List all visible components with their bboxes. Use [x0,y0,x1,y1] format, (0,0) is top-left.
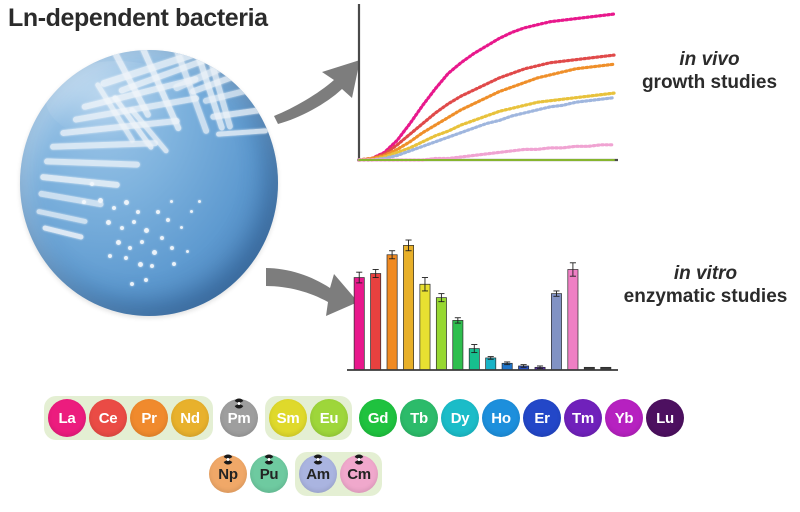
bacterial-colony [82,200,86,204]
bacterial-colony [98,198,103,203]
bacterial-colony [190,210,193,213]
bacterial-colony [120,226,124,230]
bacterial-streak [44,158,140,167]
element-symbol: Yb [615,410,634,427]
element-badge-ce[interactable]: Ce [89,399,127,437]
element-symbol: Pu [260,466,279,483]
bacterial-colony [160,236,164,240]
bacterial-streak [94,81,135,143]
bar-Tb [469,345,479,370]
element-symbol: Ho [491,410,510,427]
element-badge-am[interactable]: Am [299,455,337,493]
bacterial-colony [150,264,154,268]
enzyme-activity-chart [345,228,620,380]
bar-Gd [453,318,463,370]
element-symbol: Sm [277,410,300,427]
growth-curves-chart [345,2,620,174]
bacterial-streak [210,106,270,120]
element-badge-nd[interactable]: Nd [171,399,209,437]
label-in-vitro: in vitro enzymatic studies [618,262,793,308]
bacterial-colony [130,282,134,286]
growth-curve-La [359,14,614,160]
element-badge-dy[interactable]: Dy [441,399,479,437]
element-badge-tb[interactable]: Tb [400,399,438,437]
bacterial-colony [106,220,111,225]
bacterial-colony [144,228,149,233]
element-badge-pu[interactable]: Pu [250,455,288,493]
element-symbol: Pm [228,410,251,427]
bacterial-streak [72,95,199,123]
label-in-vitro-latin: in vitro [618,262,793,285]
bar-Eu [436,294,446,370]
element-symbol: La [59,410,76,427]
bacterial-colony [152,250,157,255]
radioactive-icon [354,454,365,465]
bacterial-colony [172,262,176,266]
bacterial-streak [60,118,180,137]
bacterial-colony [180,226,183,229]
highlighted-element-group: AmCm [295,452,382,496]
lanthanide-series-row: LaCePrNdPmSmEuGdTbDyHoErTmYbLu [44,396,688,440]
highlighted-element-group: SmEu [265,396,352,440]
page-title: Ln-dependent bacteria [8,4,268,33]
radioactive-icon [223,454,234,465]
bacterial-colony [112,206,116,210]
label-in-vitro-sub: enzymatic studies [618,285,793,308]
bacterial-colony [166,218,170,222]
label-in-vivo-sub: growth studies [622,71,797,94]
element-symbol: Lu [656,410,674,427]
petri-dish-photo [12,42,284,324]
element-symbol: Gd [368,410,388,427]
bacterial-colony [128,246,132,250]
element-symbol: Er [534,410,549,427]
element-symbol: Dy [451,410,470,427]
bacterial-colony [90,182,94,186]
graphical-abstract: Ln-dependent bacteria in vivo growth stu… [0,0,800,512]
element-badge-lu[interactable]: Lu [646,399,684,437]
element-symbol: Eu [320,410,339,427]
bar-Ce [371,270,381,371]
bacterial-streak [38,190,104,207]
highlighted-element-group: LaCePrNd [44,396,213,440]
radioactive-icon [313,454,324,465]
bar-La [354,272,364,370]
element-badge-ho[interactable]: Ho [482,399,520,437]
bacterial-colony [124,200,129,205]
bacterial-streak [36,209,88,225]
element-badge-gd[interactable]: Gd [359,399,397,437]
bacterial-colony [156,210,160,214]
bar-Ho [502,362,512,370]
element-symbol: Cm [347,466,371,483]
element-badge-pr[interactable]: Pr [130,399,168,437]
bacterial-colony [186,250,189,253]
bacterial-streak [50,140,158,150]
label-in-vivo: in vivo growth studies [622,48,797,94]
bacterial-colony [116,240,121,245]
bar-Yb [551,291,561,370]
radioactive-icon [234,398,245,409]
bar-Lu [568,263,578,370]
element-badge-la[interactable]: La [48,399,86,437]
bacterial-streak [40,174,120,188]
element-group: Pm [216,396,262,440]
element-badge-pm[interactable]: Pm [220,399,258,437]
element-symbol: Tb [410,410,428,427]
element-group: NpPu [205,452,292,496]
element-symbol: Ce [99,410,118,427]
bacterial-colony [144,278,148,282]
bar-Pr [387,251,397,370]
element-symbol: Nd [180,410,199,427]
element-group: GdTbDyHoErTmYbLu [355,396,688,440]
element-symbol: Np [218,466,237,483]
bacterial-colony [124,256,128,260]
bacterial-colony [170,200,173,203]
element-badge-cm[interactable]: Cm [340,455,378,493]
element-badge-yb[interactable]: Yb [605,399,643,437]
bar-Nd [403,240,413,370]
bar-Dy [486,357,496,370]
element-badge-np[interactable]: Np [209,455,247,493]
element-badge-tm[interactable]: Tm [564,399,602,437]
actinide-series-row: NpPuAmCm [205,452,382,496]
element-symbol: Am [306,466,330,483]
agar-plate [20,50,278,316]
bacterial-colony [132,220,136,224]
element-symbol: Pr [141,410,156,427]
bacterial-colony [198,200,201,203]
bacterial-colony [170,246,174,250]
bar-Sm [420,278,430,370]
element-badge-sm[interactable]: Sm [269,399,307,437]
label-in-vivo-latin: in vivo [622,48,797,71]
bacterial-colony [140,240,144,244]
radioactive-icon [264,454,275,465]
bacterial-colony [136,210,140,214]
growth-curve-Ce [359,55,614,160]
bacterial-colony [108,254,112,258]
element-symbol: Tm [572,410,594,427]
bacterial-streak [42,225,84,240]
element-badge-er[interactable]: Er [523,399,561,437]
element-badge-eu[interactable]: Eu [310,399,348,437]
bacterial-colony [138,262,143,267]
